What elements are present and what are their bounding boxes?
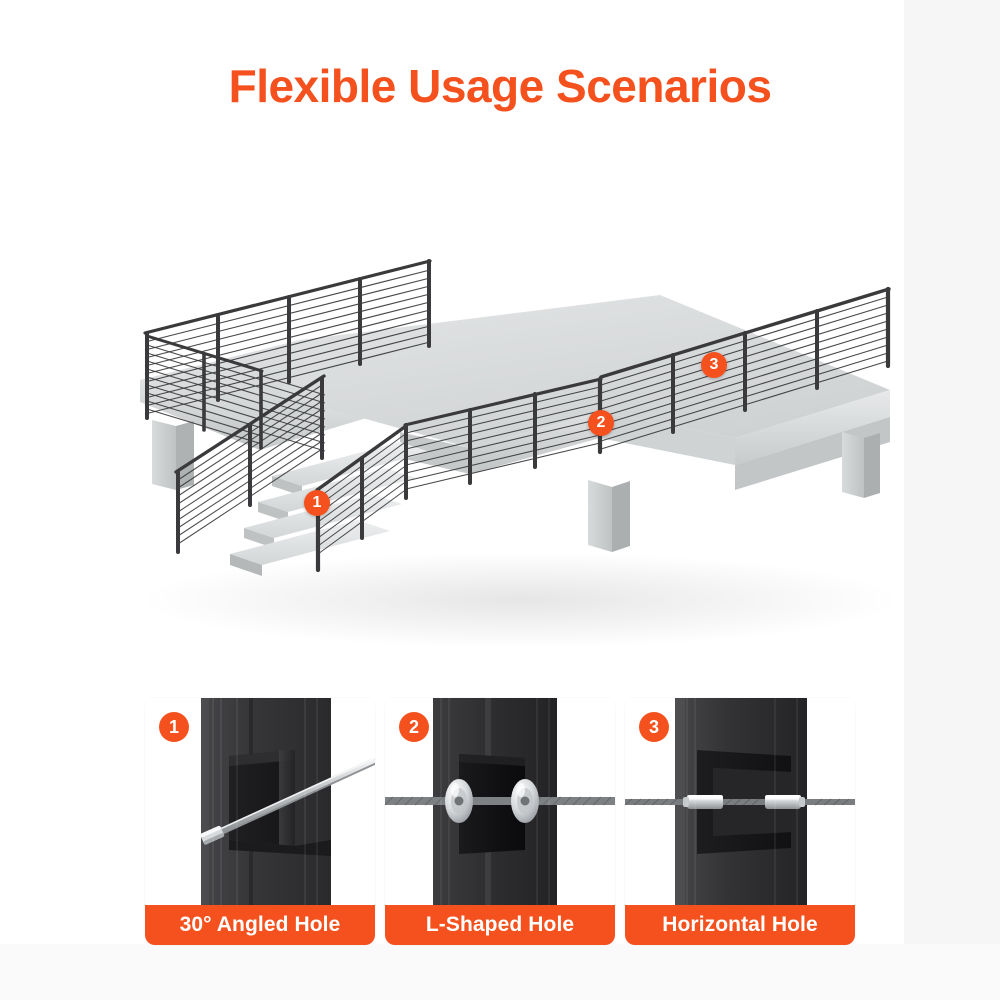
deck-main-slab <box>280 295 890 552</box>
swage-right <box>765 795 805 809</box>
detail-card-horizontal-hole[interactable]: 3 Horizontal Hole <box>625 698 855 945</box>
fitting-right <box>511 779 539 823</box>
detail-card-angled-hole[interactable]: 1 30° Angled Hole <box>145 698 375 945</box>
swage-left <box>683 795 723 809</box>
card-badge-3: 3 <box>639 712 669 742</box>
card-label-l-shaped-hole: L-Shaped Hole <box>385 905 615 945</box>
deck-render-svg <box>0 180 1000 660</box>
hero-callout-1[interactable]: 1 <box>304 490 330 516</box>
card-label-angled-hole: 30° Angled Hole <box>145 905 375 945</box>
card-badge-2: 2 <box>399 712 429 742</box>
card-label-horizontal-hole: Horizontal Hole <box>625 905 855 945</box>
card-badge-1: 1 <box>159 712 189 742</box>
background-bottom-strip <box>0 944 1000 1000</box>
hero-callout-2[interactable]: 2 <box>588 410 614 436</box>
hero-illustration <box>0 180 1000 660</box>
hero-callout-3[interactable]: 3 <box>701 352 727 378</box>
page-title: Flexible Usage Scenarios <box>0 60 1000 112</box>
detail-card-l-shaped-hole[interactable]: 2 L-Shaped Hole <box>385 698 615 945</box>
detail-cards-row: 1 30° Angled Hole <box>145 698 855 945</box>
infographic-page: Flexible Usage Scenarios <box>0 0 1000 1000</box>
